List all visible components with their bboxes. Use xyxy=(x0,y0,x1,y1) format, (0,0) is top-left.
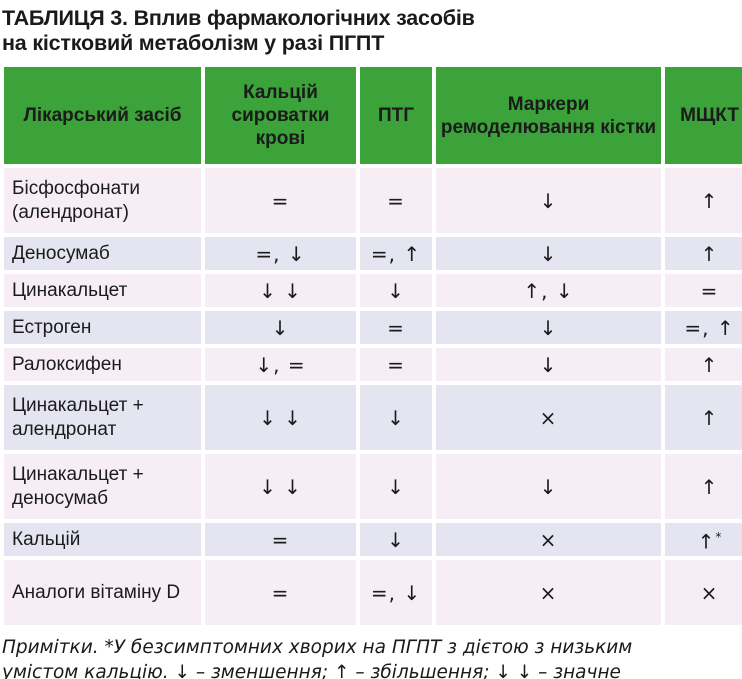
table-header: Лікарський засіб Кальцій сироватки крові… xyxy=(4,67,742,164)
cell-serum-calcium: ↓ ↓ xyxy=(205,454,356,519)
cell-bmd: ↑ xyxy=(665,348,742,381)
cell-bone-markers: ↓ xyxy=(436,348,661,381)
cell-serum-calcium: ↓ ↓ xyxy=(205,274,356,307)
cell-drug-name: Цинакальцет + деносумаб xyxy=(4,454,201,519)
cell-serum-calcium: ↓ ↓ xyxy=(205,385,356,450)
cell-serum-calcium: = xyxy=(205,168,356,233)
cell-drug-name: Деносумаб xyxy=(4,237,201,270)
table-body: Бісфосфонати (алендронат) = = ↓ ↑ Деносу… xyxy=(4,168,742,625)
cell-pth: ↓ xyxy=(360,454,432,519)
table-row: Аналоги вітаміну D = =, ↓ × × xyxy=(4,560,742,625)
cell-drug-name: Аналоги вітаміну D xyxy=(4,560,201,625)
cell-drug-name: Цинакальцет + алендронат xyxy=(4,385,201,450)
cell-bone-markers: × xyxy=(436,560,661,625)
table-figure: ТАБЛИЦЯ 3. Вплив фармакологічних засобів… xyxy=(0,0,742,679)
cell-pth: ↓ xyxy=(360,385,432,450)
cell-bmd-value: ↑ xyxy=(698,530,716,554)
cell-bmd: ↑ xyxy=(665,168,742,233)
cell-drug-name: Кальцій xyxy=(4,523,201,556)
cell-drug-name: Ралоксифен xyxy=(4,348,201,381)
cell-serum-calcium: ↓ xyxy=(205,311,356,344)
cell-bone-markers: ↑, ↓ xyxy=(436,274,661,307)
cell-bmd: ↑ xyxy=(665,237,742,270)
cell-pth: ↓ xyxy=(360,523,432,556)
cell-serum-calcium: = xyxy=(205,523,356,556)
table-row: Цинакальцет + деносумаб ↓ ↓ ↓ ↓ ↑ xyxy=(4,454,742,519)
cell-pth: = xyxy=(360,348,432,381)
table-row: Деносумаб =, ↓ =, ↑ ↓ ↑ xyxy=(4,237,742,270)
cell-bmd: =, ↑ xyxy=(665,311,742,344)
cell-serum-calcium: = xyxy=(205,560,356,625)
cell-bmd: = xyxy=(665,274,742,307)
cell-pth: =, ↑ xyxy=(360,237,432,270)
footnote-marker: * xyxy=(715,530,721,544)
table-row: Кальцій = ↓ × ↑* xyxy=(4,523,742,556)
cell-serum-calcium: ↓, = xyxy=(205,348,356,381)
title-line-2: на кістковий метаболізм у разі ПГПТ xyxy=(2,31,740,56)
column-header-pth: ПТГ xyxy=(360,67,432,164)
table-row: Ралоксифен ↓, = = ↓ ↑ xyxy=(4,348,742,381)
cell-drug-name: Цинакальцет xyxy=(4,274,201,307)
cell-serum-calcium: =, ↓ xyxy=(205,237,356,270)
table-row: Цинакальцет ↓ ↓ ↓ ↑, ↓ = xyxy=(4,274,742,307)
column-header-bmd: МЩКТ xyxy=(665,67,742,164)
cell-bmd: ↑* xyxy=(665,523,742,556)
cell-bone-markers: × xyxy=(436,523,661,556)
header-row: Лікарський засіб Кальцій сироватки крові… xyxy=(4,67,742,164)
cell-bone-markers: × xyxy=(436,385,661,450)
cell-bmd: ↑ xyxy=(665,385,742,450)
column-header-serum-calcium: Кальцій сироватки крові xyxy=(205,67,356,164)
cell-drug-name: Бісфосфонати (алендронат) xyxy=(4,168,201,233)
cell-bmd: ↑ xyxy=(665,454,742,519)
cell-bone-markers: ↓ xyxy=(436,311,661,344)
notes-line-1: Примітки. *У безсимптомних хворих на ПГП… xyxy=(2,635,738,660)
cell-bone-markers: ↓ xyxy=(436,237,661,270)
figure-title: ТАБЛИЦЯ 3. Вплив фармакологічних засобів… xyxy=(0,0,742,56)
drug-effects-table: Лікарський засіб Кальцій сироватки крові… xyxy=(0,63,742,629)
cell-bone-markers: ↓ xyxy=(436,168,661,233)
table-row: Бісфосфонати (алендронат) = = ↓ ↑ xyxy=(4,168,742,233)
cell-pth: =, ↓ xyxy=(360,560,432,625)
cell-bmd: × xyxy=(665,560,742,625)
table-row: Естроген ↓ = ↓ =, ↑ xyxy=(4,311,742,344)
cell-drug-name: Естроген xyxy=(4,311,201,344)
table-notes: Примітки. *У безсимптомних хворих на ПГП… xyxy=(0,629,742,679)
table-row: Цинакальцет + алендронат ↓ ↓ ↓ × ↑ xyxy=(4,385,742,450)
title-line-1: ТАБЛИЦЯ 3. Вплив фармакологічних засобів xyxy=(2,6,740,31)
cell-pth: = xyxy=(360,311,432,344)
cell-bone-markers: ↓ xyxy=(436,454,661,519)
notes-line-2: умістом кальцію. ↓ – зменшення; ↑ – збіл… xyxy=(2,660,738,679)
column-header-bone-markers: Маркери ремоделювання кістки xyxy=(436,67,661,164)
cell-pth: = xyxy=(360,168,432,233)
cell-pth: ↓ xyxy=(360,274,432,307)
column-header-drug: Лікарський засіб xyxy=(4,67,201,164)
